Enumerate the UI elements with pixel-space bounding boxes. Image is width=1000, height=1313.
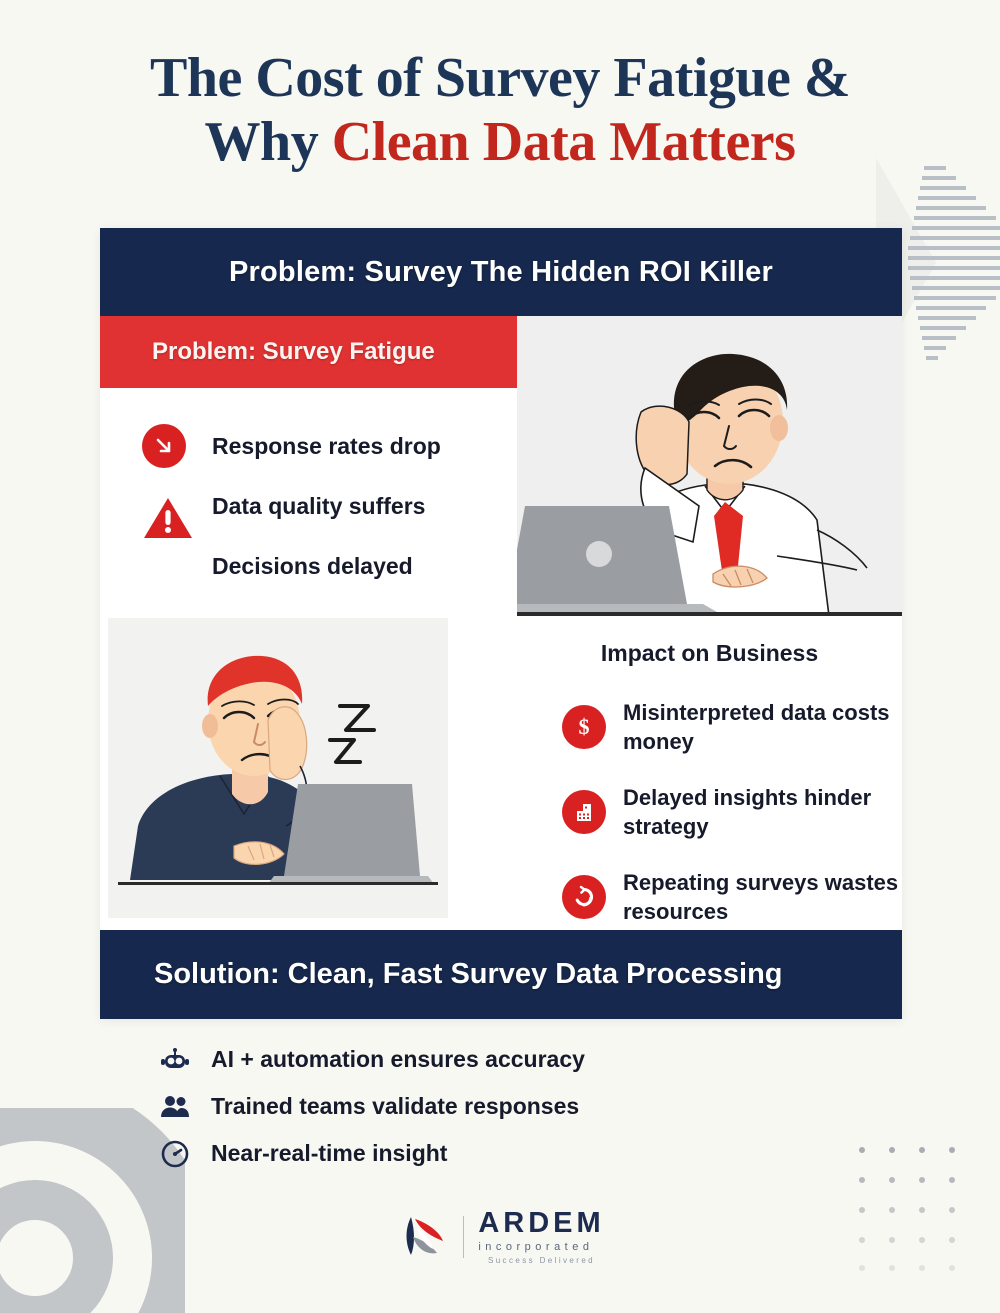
arrow-down-right-icon [142, 424, 186, 468]
logo-divider [463, 1216, 464, 1258]
problem-bullet-2: Data quality suffers [212, 476, 441, 536]
impact-item-label: Repeating surveys wastes resources [623, 868, 902, 926]
impact-item-label: Misinterpreted data costs money [623, 698, 902, 756]
robot-icon [158, 1043, 192, 1077]
problem-bullet-1: Response rates drop [212, 416, 441, 476]
logo-wordmark: ARDEM incorporated Success Delivered [478, 1209, 604, 1265]
warning-triangle-icon [142, 495, 194, 541]
refresh-cycle-icon [562, 875, 606, 919]
problem-subheader-band: Problem: Survey Fatigue [100, 316, 517, 388]
impact-item-list: $ Misinterpreted data costs money [562, 698, 902, 953]
solution-header-band: Solution: Clean, Fast Survey Data Proces… [100, 930, 902, 1019]
dollar-icon: $ [562, 705, 606, 749]
solution-item-label: Trained teams validate responses [211, 1093, 579, 1120]
impact-item: Repeating surveys wastes resources [562, 868, 902, 926]
impact-item: $ Misinterpreted data costs money [562, 698, 902, 756]
title-line-2-red: Clean Data Matters [332, 111, 796, 173]
infographic-page: The Cost of Survey Fatigue & Why Clean D… [0, 0, 1000, 1313]
title-line-1: The Cost of Survey Fatigue & [0, 44, 1000, 112]
page-title: The Cost of Survey Fatigue & Why Clean D… [0, 44, 1000, 177]
impact-item-label: Delayed insights hinder strategy [623, 783, 902, 841]
solution-header-text: Solution: Clean, Fast Survey Data Proces… [154, 958, 783, 991]
logo-tagline: Success Delivered [478, 1257, 604, 1265]
solution-item-list: AI + automation ensures accuracy Trained… [158, 1036, 585, 1177]
gauge-speedometer-icon [158, 1137, 192, 1171]
solution-item-label: Near-real-time insight [211, 1140, 447, 1167]
title-line-2: Why Clean Data Matters [0, 108, 1000, 176]
svg-text:$: $ [579, 714, 590, 739]
solution-item-label: AI + automation ensures accuracy [211, 1046, 585, 1073]
impact-item: Delayed insights hinder strategy [562, 783, 902, 841]
logo-brand-sub: incorporated [478, 1242, 604, 1253]
problem-bullet-icons [142, 416, 194, 548]
problem-subheader-text: Problem: Survey Fatigue [152, 338, 435, 366]
solution-item: AI + automation ensures accuracy [158, 1036, 585, 1083]
tired-man-illustration [517, 316, 902, 616]
calendar-building-icon [562, 790, 606, 834]
content-card: Problem: Survey The Hidden ROI Killer Pr… [100, 228, 902, 1019]
sleeping-man-illustration [108, 618, 448, 918]
solution-item: Near-real-time insight [158, 1130, 585, 1177]
solution-item: Trained teams validate responses [158, 1083, 585, 1130]
people-team-icon [158, 1090, 192, 1124]
problem-header-band: Problem: Survey The Hidden ROI Killer [100, 228, 902, 316]
problem-bullet-list: Response rates drop Data quality suffers… [212, 416, 441, 596]
title-line-2-navy: Why [205, 111, 332, 173]
ardem-flame-mark-icon [395, 1209, 451, 1265]
logo-brand: ARDEM [478, 1209, 604, 1238]
ardem-logo: ARDEM incorporated Success Delivered [0, 1209, 1000, 1265]
problem-header-text: Problem: Survey The Hidden ROI Killer [229, 256, 773, 289]
impact-section-title: Impact on Business [517, 640, 902, 667]
problem-bullet-3: Decisions delayed [212, 536, 441, 596]
